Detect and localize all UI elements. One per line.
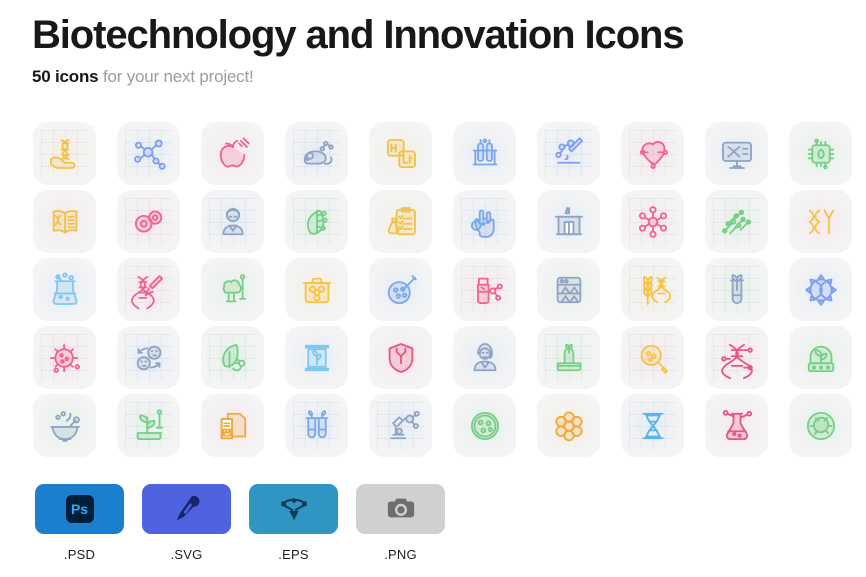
- icon-tile-28[interactable]: [621, 258, 684, 321]
- icon-tile-21[interactable]: [33, 258, 96, 321]
- icon-tile-37[interactable]: [537, 326, 600, 389]
- pipette-molecule-icon: [548, 133, 590, 175]
- scientist-man-icon: [212, 201, 254, 243]
- icon-tile-3[interactable]: [201, 122, 264, 185]
- icon-tile-36[interactable]: [453, 326, 516, 389]
- icon-tile-30[interactable]: [789, 258, 852, 321]
- icon-tile-48[interactable]: [621, 394, 684, 457]
- icon-tile-17[interactable]: [537, 190, 600, 253]
- plant-incubator-icon: [296, 337, 338, 379]
- seedling-test-tube-icon: [716, 269, 758, 311]
- dna-dots-icon: [716, 201, 758, 243]
- format-col-svg: .SVG: [142, 484, 231, 562]
- icon-tile-18[interactable]: [621, 190, 684, 253]
- laboratory-building-icon: [548, 201, 590, 243]
- format-col-eps: .EPS: [249, 484, 338, 562]
- format-label-png: .PNG: [384, 547, 417, 562]
- incubator-window-icon: [548, 269, 590, 311]
- icon-tile-41[interactable]: [33, 394, 96, 457]
- hand-holding-dna-icon: [44, 133, 86, 175]
- test-tube-rack-icon: [464, 133, 506, 175]
- page-title: Biotechnology and Innovation Icons: [32, 14, 832, 56]
- icon-tile-11[interactable]: [33, 190, 96, 253]
- format-button-eps[interactable]: [249, 484, 338, 534]
- icon-tile-16[interactable]: [453, 190, 516, 253]
- icon-tile-9[interactable]: [705, 122, 768, 185]
- format-button-svg[interactable]: [142, 484, 231, 534]
- plant-dropper-icon: [128, 405, 170, 447]
- format-col-png: .PNG: [356, 484, 445, 562]
- pen-nib-icon: [172, 493, 202, 526]
- flask-molecule-icon: [716, 405, 758, 447]
- cloned-sheep-icon: [128, 337, 170, 379]
- lab-mouse-icon: [296, 133, 338, 175]
- medicine-bottle-molecule-icon: [464, 269, 506, 311]
- icon-tile-14[interactable]: [285, 190, 348, 253]
- lab-checklist-icon: [380, 201, 422, 243]
- format-col-psd: Ps.PSD: [35, 484, 124, 562]
- research-documents-icon: [212, 405, 254, 447]
- icon-tile-27[interactable]: [537, 258, 600, 321]
- format-button-psd[interactable]: Ps: [35, 484, 124, 534]
- icon-tile-47[interactable]: [537, 394, 600, 457]
- icon-tile-42[interactable]: [117, 394, 180, 457]
- icon-tile-19[interactable]: [705, 190, 768, 253]
- icon-tile-38[interactable]: [621, 326, 684, 389]
- icon-tile-25[interactable]: [369, 258, 432, 321]
- format-label-eps: .EPS: [278, 547, 308, 562]
- molecule-network-icon: [128, 133, 170, 175]
- icon-tile-5[interactable]: [369, 122, 432, 185]
- icon-tile-1[interactable]: [33, 122, 96, 185]
- scientist-woman-icon: [464, 337, 506, 379]
- heart-molecule-icon: [632, 133, 674, 175]
- icon-tile-39[interactable]: [705, 326, 768, 389]
- chemical-elements-icon: [380, 133, 422, 175]
- broccoli-dropper-icon: [212, 269, 254, 311]
- leaf-circuit-icon: [296, 201, 338, 243]
- mortar-pestle-icon: [44, 405, 86, 447]
- icon-tile-29[interactable]: [705, 258, 768, 321]
- icon-tile-7[interactable]: [537, 122, 600, 185]
- icon-tile-20[interactable]: [789, 190, 852, 253]
- icon-tile-12[interactable]: [117, 190, 180, 253]
- camera-icon: [386, 493, 416, 526]
- format-label-psd: .PSD: [64, 547, 95, 562]
- leaf-stethoscope-icon: [212, 337, 254, 379]
- icon-tile-22[interactable]: [117, 258, 180, 321]
- petri-dish-sample-icon: [380, 269, 422, 311]
- icon-grid: [33, 122, 852, 457]
- icon-tile-10[interactable]: [789, 122, 852, 185]
- icon-tile-33[interactable]: [201, 326, 264, 389]
- greenhouse-plant-icon: [800, 337, 842, 379]
- petri-dish-bacteria-icon: [464, 405, 506, 447]
- icon-tile-43[interactable]: [201, 394, 264, 457]
- molecular-structure-icon: [632, 201, 674, 243]
- dna-syringe-icon: [128, 269, 170, 311]
- icon-tile-44[interactable]: [285, 394, 348, 457]
- icon-tile-31[interactable]: [33, 326, 96, 389]
- icon-tile-49[interactable]: [705, 394, 768, 457]
- dna-gear-icon: [800, 269, 842, 311]
- beaker-liquid-icon: [44, 269, 86, 311]
- icon-tile-32[interactable]: [117, 326, 180, 389]
- header: Biotechnology and Innovation Icons 50 ic…: [32, 14, 832, 85]
- antibody-shield-icon: [380, 337, 422, 379]
- icon-tile-45[interactable]: [369, 394, 432, 457]
- format-label-svg: .SVG: [171, 547, 203, 562]
- icon-tile-26[interactable]: [453, 258, 516, 321]
- bacteria-dish-icon: [800, 405, 842, 447]
- virus-icon: [44, 337, 86, 379]
- biohazard-box-icon: [296, 269, 338, 311]
- icon-tile-6[interactable]: [453, 122, 516, 185]
- wheat-dna-icon: [632, 269, 674, 311]
- bezier-path-icon: [279, 493, 309, 526]
- test-tubes-sprout-icon: [296, 405, 338, 447]
- icon-tile-50[interactable]: [789, 394, 852, 457]
- icon-tile-13[interactable]: [201, 190, 264, 253]
- format-buttons: Ps.PSD.SVG.EPS.PNG: [35, 484, 445, 562]
- icon-tile-15[interactable]: [369, 190, 432, 253]
- icon-tile-23[interactable]: [201, 258, 264, 321]
- dna-book-icon: [44, 201, 86, 243]
- icon-count: 50 icons: [32, 67, 98, 86]
- icon-tile-40[interactable]: [789, 326, 852, 389]
- icon-tile-4[interactable]: [285, 122, 348, 185]
- format-button-png[interactable]: [356, 484, 445, 534]
- dna-analysis-icon: [716, 337, 758, 379]
- xy-chromosome-icon: [800, 201, 842, 243]
- microscope-molecule-icon: [380, 405, 422, 447]
- page-subtitle: 50 icons for your next project!: [32, 68, 832, 85]
- cell-division-icon: [128, 201, 170, 243]
- icon-tile-2[interactable]: [117, 122, 180, 185]
- icon-tile-8[interactable]: [621, 122, 684, 185]
- icon-pack-preview: Biotechnology and Innovation Icons 50 ic…: [0, 0, 866, 577]
- dna-capsule-icon: [632, 405, 674, 447]
- icon-tile-46[interactable]: [453, 394, 516, 457]
- icon-tile-35[interactable]: [369, 326, 432, 389]
- subtitle-rest: for your next project!: [98, 67, 253, 86]
- biochip-icon: [800, 133, 842, 175]
- icon-tile-34[interactable]: [285, 326, 348, 389]
- dna-monitor-icon: [716, 133, 758, 175]
- magnifier-cell-icon: [632, 337, 674, 379]
- stem-cells-icon: [548, 405, 590, 447]
- gloved-hand-virus-icon: [464, 201, 506, 243]
- photoshop-icon: Ps: [66, 495, 94, 523]
- apple-syringe-icon: [212, 133, 254, 175]
- plant-book-icon: [548, 337, 590, 379]
- icon-tile-24[interactable]: [285, 258, 348, 321]
